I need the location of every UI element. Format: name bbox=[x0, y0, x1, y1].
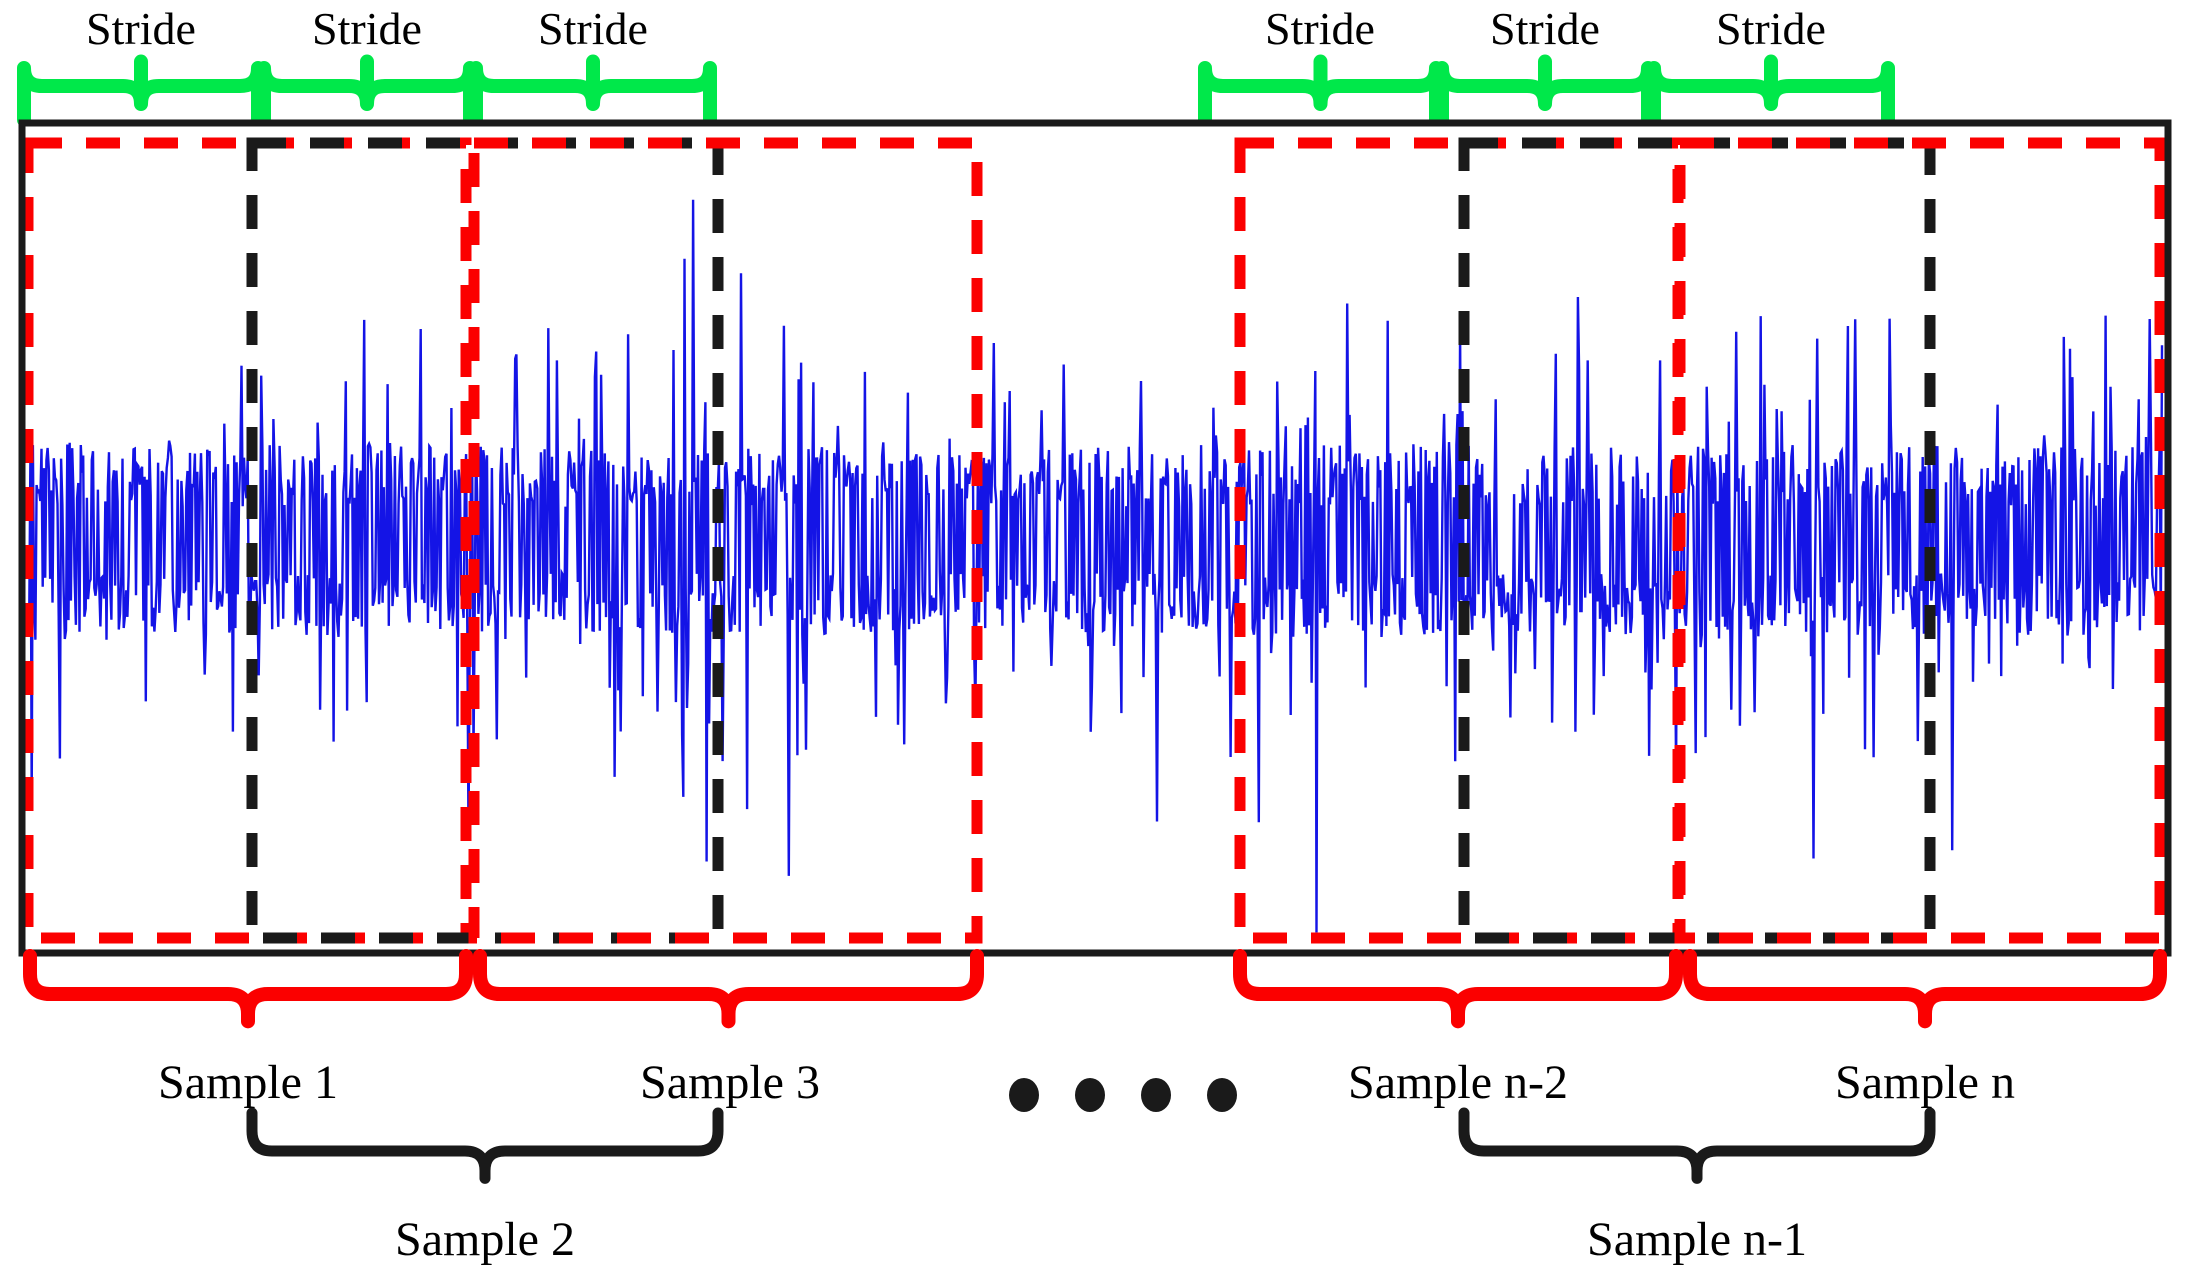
stride-2-label: Stride bbox=[312, 6, 422, 52]
sample-n-label: Sample n bbox=[1835, 1059, 2015, 1107]
sample-brace-lower-group bbox=[252, 1113, 1930, 1178]
sample-1-brace bbox=[30, 956, 466, 1021]
stride-4-label: Stride bbox=[1265, 6, 1375, 52]
stride-6-brace bbox=[1654, 62, 1888, 120]
stride-1-brace bbox=[24, 62, 258, 120]
stride-brace-group bbox=[24, 62, 1888, 120]
sample-n-2-label: Sample n-2 bbox=[1348, 1059, 1568, 1107]
sample-1-label: Sample 1 bbox=[158, 1059, 338, 1107]
sample-n-1-label: Sample n-1 bbox=[1587, 1216, 1807, 1264]
stride-5-brace bbox=[1442, 62, 1648, 120]
sample-3-label: Sample 3 bbox=[640, 1059, 820, 1107]
sample-2-label: Sample 2 bbox=[395, 1216, 575, 1264]
stride-3-label: Stride bbox=[538, 6, 648, 52]
ellipsis-dot-2 bbox=[1075, 1078, 1105, 1112]
ellipsis-dot-4 bbox=[1207, 1078, 1237, 1112]
ellipsis-dots-group bbox=[1009, 1078, 1237, 1112]
stride-1-label: Stride bbox=[86, 6, 196, 52]
stride-4-brace bbox=[1205, 62, 1436, 120]
stride-2-brace bbox=[264, 62, 470, 120]
ellipsis-dot-3 bbox=[1141, 1078, 1171, 1112]
sample-3-brace bbox=[480, 956, 977, 1021]
sample-n-2-brace bbox=[1240, 956, 1676, 1021]
ellipsis-dot-1 bbox=[1009, 1078, 1039, 1112]
sample-brace-upper-group bbox=[30, 956, 2160, 1021]
stride-5-label: Stride bbox=[1490, 6, 1600, 52]
stride-6-label: Stride bbox=[1716, 6, 1826, 52]
sample-n-brace bbox=[1690, 956, 2160, 1021]
sample-2-brace bbox=[252, 1113, 718, 1178]
figure-canvas: StrideStrideStrideStrideStrideStrideSamp… bbox=[0, 0, 2188, 1285]
sample-n-1-brace bbox=[1464, 1113, 1930, 1178]
plot-area-group bbox=[22, 123, 2168, 953]
stride-3-brace bbox=[476, 62, 710, 120]
